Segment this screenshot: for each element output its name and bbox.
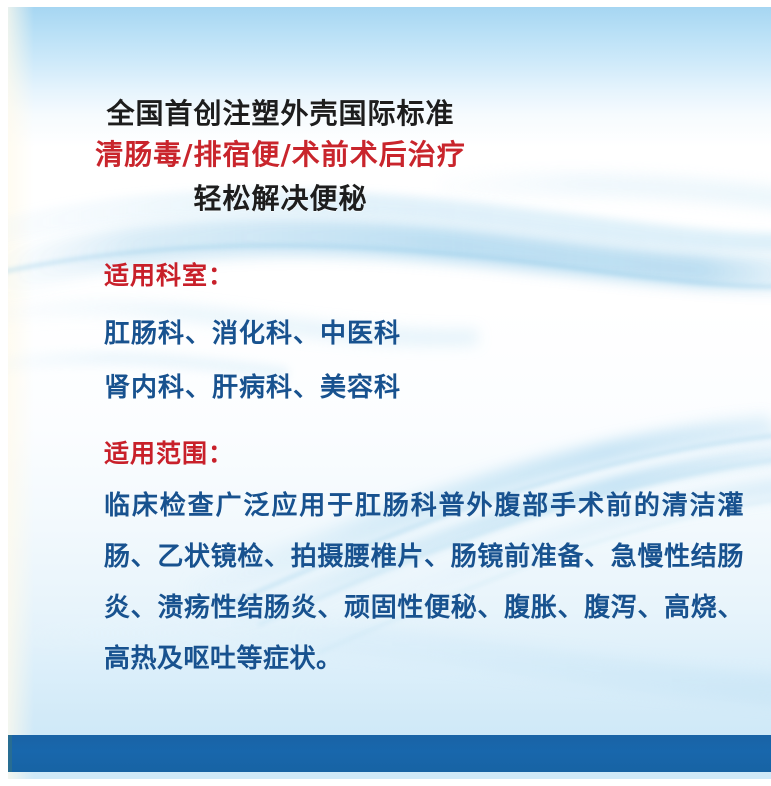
scope-body-text: 临床检查广泛应用于肛肠科普外腹部手术前的清洁灌肠、乙状镜检、拍摄腰椎片、肠镜前准… <box>104 481 744 685</box>
scope-heading: 适用范围： <box>104 437 747 471</box>
headline-line-1: 全国首创注塑外壳国际标准 <box>8 95 553 133</box>
headline-line-2: 清肠毒/排宿便/术前术后治疗 <box>8 133 553 177</box>
departments-section: 适用科室： 肛肠科、消化科、中医科 肾内科、肝病科、美容科 <box>104 259 747 415</box>
scope-body: 临床检查广泛应用于肛肠科普外腹部手术前的清洁灌肠、乙状镜检、拍摄腰椎片、肠镜前准… <box>104 481 744 685</box>
headline-block: 全国首创注塑外壳国际标准 清肠毒/排宿便/术前术后治疗 轻松解决便秘 <box>8 95 553 221</box>
poster-content: 全国首创注塑外壳国际标准 清肠毒/排宿便/术前术后治疗 轻松解决便秘 适用科室：… <box>8 7 771 779</box>
departments-heading: 适用科室： <box>104 259 747 293</box>
headline-line-3: 轻松解决便秘 <box>8 177 553 221</box>
poster-root: 全国首创注塑外壳国际标准 清肠毒/排宿便/术前术后治疗 轻松解决便秘 适用科室：… <box>0 0 771 786</box>
poster-canvas: 全国首创注塑外壳国际标准 清肠毒/排宿便/术前术后治疗 轻松解决便秘 适用科室：… <box>8 7 771 779</box>
departments-line-1: 肛肠科、消化科、中医科 <box>104 307 747 361</box>
scope-section: 适用范围： 临床检查广泛应用于肛肠科普外腹部手术前的清洁灌肠、乙状镜检、拍摄腰椎… <box>104 437 747 685</box>
departments-line-2: 肾内科、肝病科、美容科 <box>104 361 747 415</box>
departments-list: 肛肠科、消化科、中医科 肾内科、肝病科、美容科 <box>104 307 747 415</box>
